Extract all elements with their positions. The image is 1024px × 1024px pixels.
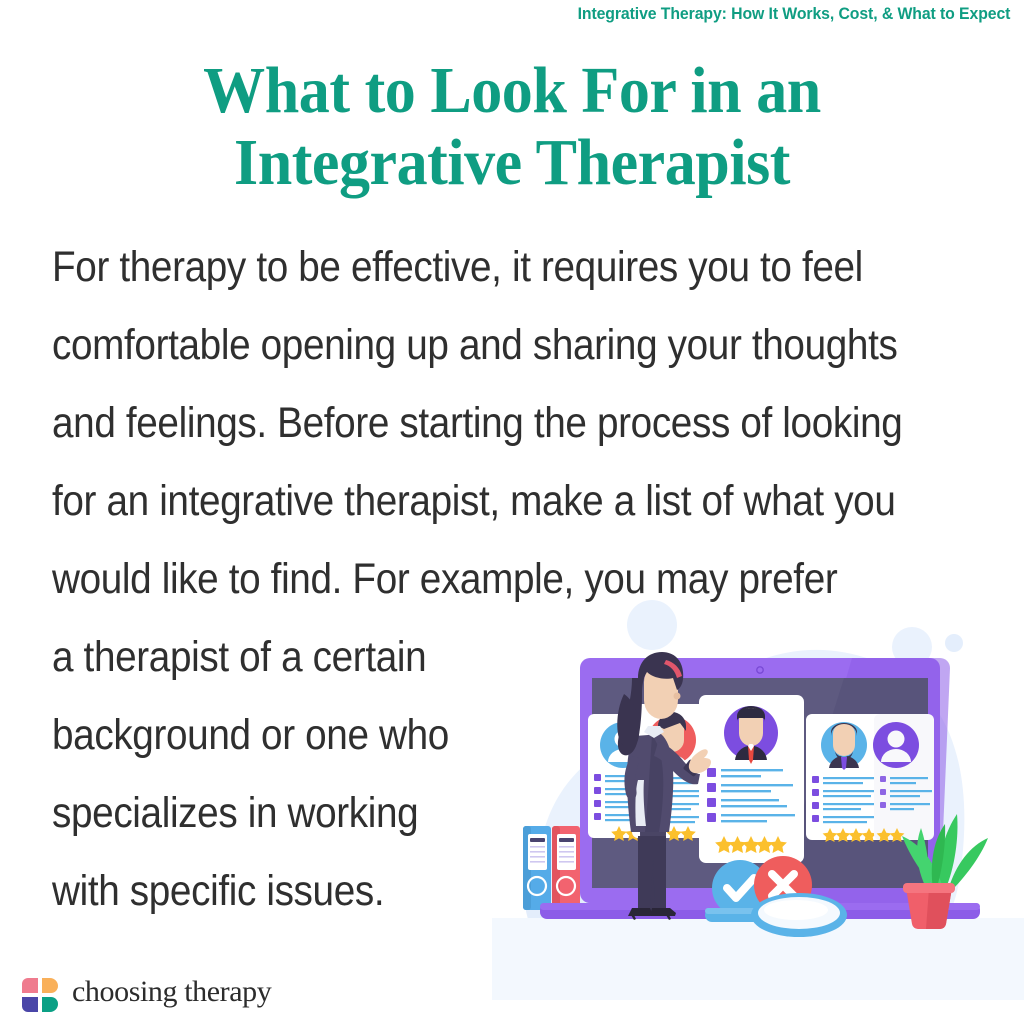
page-title: What to Look For in an Integrative Thera…: [0, 55, 1024, 199]
brand-logo[interactable]: choosing therapy: [20, 972, 280, 1018]
page-title-line-1: What to Look For in an: [31, 55, 994, 127]
article-kicker: Integrative Therapy: How It Works, Cost,…: [577, 4, 1010, 24]
profile-card-5: [873, 714, 934, 842]
profile-card-selected: [699, 695, 804, 863]
poster-canvas: Integrative Therapy: How It Works, Cost,…: [0, 0, 1024, 1024]
page-title-line-2: Integrative Therapist: [31, 127, 994, 199]
therapist-directory-illustration: [492, 600, 1024, 1000]
body-line-4: for an integrative therapist, make a lis…: [52, 462, 898, 540]
body-line-1: For therapy to be effective, it requires…: [52, 228, 898, 306]
body-line-2: comfortable opening up and sharing your …: [52, 306, 898, 384]
body-line-3: and feelings. Before starting the proces…: [52, 384, 898, 462]
brand-name: choosing therapy: [72, 975, 271, 1009]
choosing-therapy-logo-icon: [20, 975, 60, 1015]
